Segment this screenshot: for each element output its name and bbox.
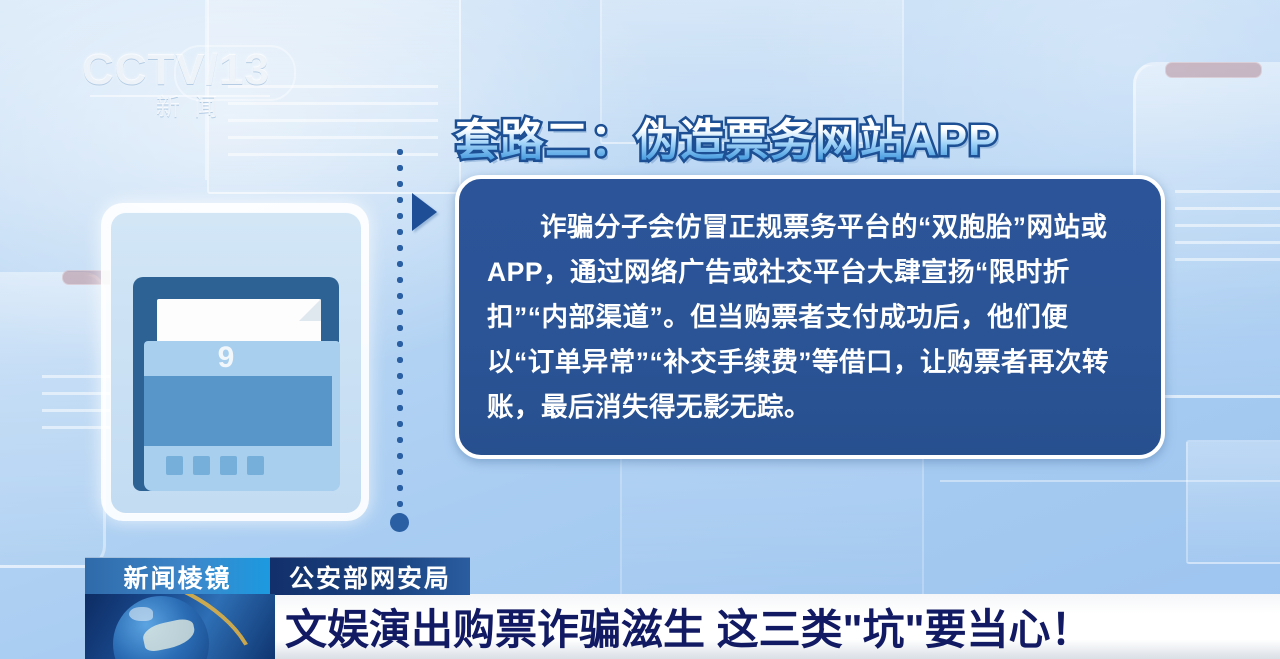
section-heading: 套路二：伪造票务网站APP [455, 104, 998, 168]
globe-graphic [85, 594, 275, 659]
headline-text: 文娱演出购票诈骗滋生 这三类"坑"要当心！ [285, 594, 1093, 659]
illustration-inner-card: 9 [110, 212, 362, 514]
pointer-arrow-icon [412, 193, 437, 231]
bg-phone-lines-right [1175, 190, 1280, 268]
bg-document-shape-4 [1186, 440, 1280, 564]
dotted-connector-end-dot [390, 513, 409, 532]
document-illustration: 9 [101, 203, 369, 521]
cctv-logo-letters: CCTV [82, 45, 206, 94]
bg-phone-bar-right [1165, 62, 1262, 78]
folder-pad-1 [166, 456, 183, 475]
source-tag: 公安部网安局 [270, 557, 470, 595]
program-tag: 新闻棱镜 [85, 557, 270, 595]
broadcast-screenshot: CCTV/13 新闻 9 套路二：伪造票务网站APP 套路二：伪造票务网站APP… [0, 0, 1280, 659]
folder-pad-3 [220, 456, 237, 475]
bg-document-lines [228, 85, 438, 165]
explanation-panel: 诈骗分子会仿冒正规票务平台的“双胞胎”网站或APP，通过网络广告或社交平台大肆宣… [455, 175, 1165, 459]
lower-third-tag-row: 新闻棱镜 公安部网安局 [85, 557, 470, 594]
explanation-body-text: 诈骗分子会仿冒正规票务平台的“双胞胎”网站或APP，通过网络广告或社交平台大肆宣… [487, 205, 1131, 430]
dotted-connector-line [396, 148, 404, 523]
folder-strip [144, 376, 332, 446]
folder-pad-4 [247, 456, 264, 475]
folder-pad-2 [193, 456, 210, 475]
headline-bar: 文娱演出购票诈骗滋生 这三类"坑"要当心！ [275, 594, 1280, 659]
badge-number-nine: 9 [208, 341, 244, 375]
